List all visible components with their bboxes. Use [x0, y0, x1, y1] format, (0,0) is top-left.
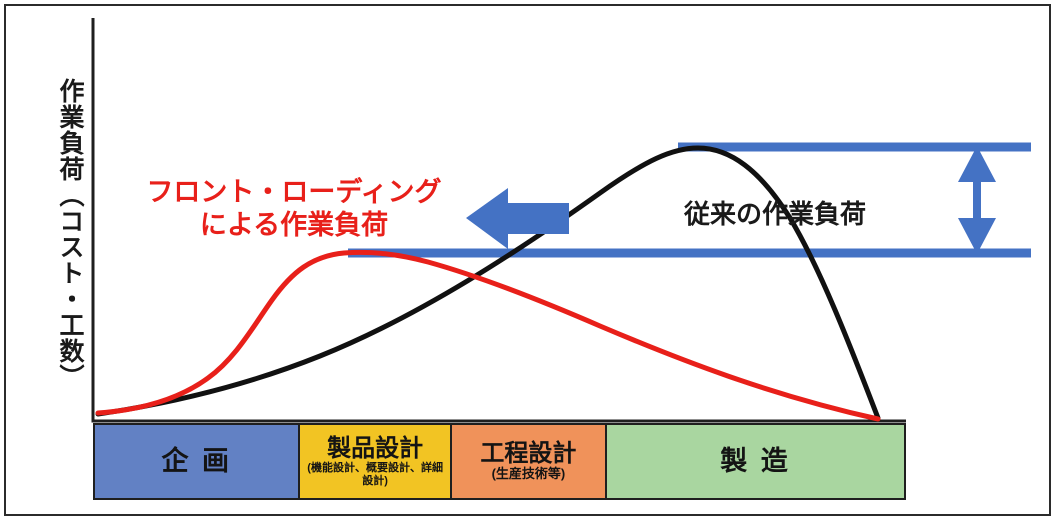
front-loading-annotation-line2: による作業負荷	[118, 209, 470, 242]
phase-product-design-sublabel: (機能設計、概要設計、詳細設計)	[300, 462, 449, 487]
workload-reduction-arrow	[958, 146, 996, 254]
phase-process-design-label: 工程設計	[480, 441, 576, 466]
phase-bar: 企 画 製品設計 (機能設計、概要設計、詳細設計) 工程設計 (生産技術等) 製…	[93, 423, 906, 500]
phase-manufacturing-label: 製 造	[720, 447, 791, 475]
phase-manufacturing[interactable]: 製 造	[607, 425, 904, 498]
curve-front-loading-workload	[98, 252, 878, 419]
phase-product-design-label: 製品設計	[327, 436, 423, 461]
front-loading-annotation: フロント・ローディング による作業負荷	[118, 176, 470, 242]
conventional-workload-annotation: 従来の作業負荷	[684, 194, 866, 231]
front-loading-shift-arrow	[466, 188, 569, 249]
phase-planning[interactable]: 企 画	[95, 425, 300, 498]
phase-process-design-sublabel: (生産技術等)	[490, 467, 568, 482]
phase-planning-label: 企 画	[161, 447, 232, 475]
diagram-canvas: 作業負荷（コスト・工数） フロント・ローディング による作業負荷 従来の作業負荷	[0, 0, 1059, 524]
front-loading-annotation-line1: フロント・ローディング	[146, 177, 441, 207]
phase-product-design[interactable]: 製品設計 (機能設計、概要設計、詳細設計)	[300, 425, 451, 498]
phase-process-design[interactable]: 工程設計 (生産技術等)	[452, 425, 607, 498]
